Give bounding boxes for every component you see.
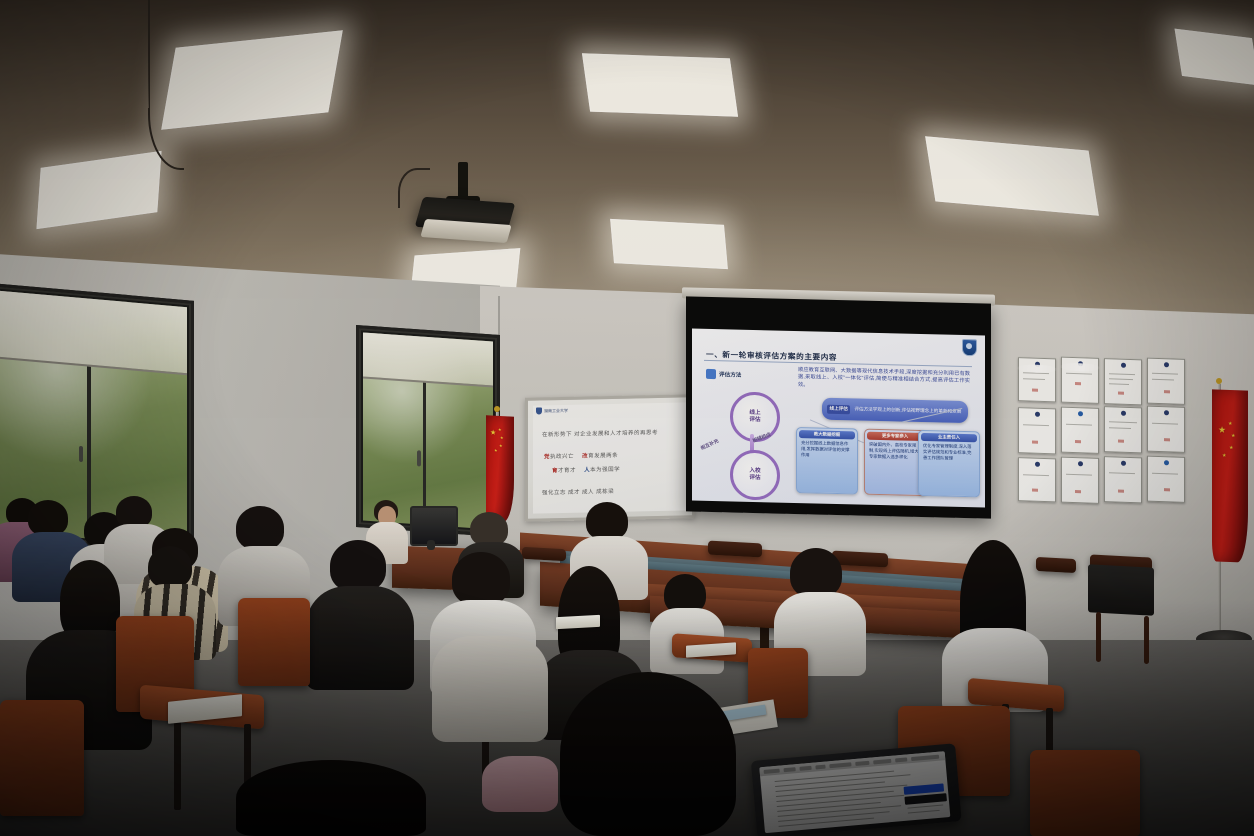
window-right-handle	[417, 450, 421, 466]
flag-left-podium: ★ ★ ★ ★ ★	[486, 415, 514, 522]
ring-onsite: 入校 评估	[730, 449, 780, 500]
certificate-line	[1066, 373, 1092, 375]
window-right-blind	[363, 332, 493, 387]
certificate-stamp	[1075, 490, 1081, 493]
ring-online: 线上 评估	[730, 391, 780, 442]
certificate-line	[1109, 427, 1131, 429]
certificate-line	[1109, 383, 1129, 385]
chair-seatback	[0, 700, 84, 816]
whiteboard-line-2-rest-b: 育发展两条	[588, 453, 618, 460]
light-panel-5	[582, 53, 738, 116]
certificate-seal	[1164, 460, 1169, 465]
certificate-frame	[1104, 456, 1142, 503]
attendee-hair	[28, 500, 68, 536]
slide-card-1-body: 充分挖掘线上数据信息作用,发挥数据对评估的支撑作用	[799, 440, 855, 459]
certificate-stamp	[1118, 392, 1124, 395]
slide-card-1-header: 教大数据挖掘	[799, 430, 855, 439]
slide-surface: 一、新一轮审核评估方案的主要内容 评估方法 顺应教育互联网、大数据等现代信息技术…	[692, 329, 985, 508]
attendee-hair	[586, 502, 628, 540]
certificate-wall	[1016, 353, 1188, 505]
certificate-stamp	[1032, 489, 1038, 492]
certificate-stamp	[1118, 490, 1124, 493]
slide-paragraph: 顺应教育互联网、大数据等现代信息技术手段,深度挖掘和充分利用已有数据,采取线上、…	[798, 367, 970, 393]
meeting-room-photo: 湖南工业大学 在新形势下 对企业发展和人才培养的再思考 党执政兴亡 改育发展两条…	[0, 0, 1254, 836]
slide-card-2-header: 更多专家参入	[867, 432, 923, 441]
certificate-line	[1109, 378, 1133, 380]
slide-card-3-body: 优化专家管理制度,深入落实评估规范和专业标准,完善工作团队管理	[921, 443, 977, 462]
certificate-stamp	[1075, 382, 1081, 385]
attendee-hair	[452, 552, 510, 606]
slide-banner-tag: 线上评估	[827, 404, 850, 414]
slide-section-badge: 评估方法	[706, 369, 741, 380]
certificate-seal	[1164, 362, 1169, 367]
flag-star-small: ★	[498, 426, 502, 434]
flag-star-large: ★	[490, 429, 496, 437]
certificate-frame	[1104, 358, 1142, 405]
attendee-hair	[560, 672, 736, 836]
whiteboard-line-3: 育才育才 人本为强国学	[552, 465, 620, 474]
light-panel-4	[610, 219, 728, 269]
certificate-line	[1023, 424, 1049, 426]
certificate-stamp	[1164, 488, 1170, 491]
whiteboard-line-4: 强化立志 成才 成人 成栋梁	[542, 487, 614, 497]
notebook	[556, 615, 600, 629]
certificate-frame	[1147, 456, 1185, 503]
certificate-seal	[1078, 461, 1083, 466]
certificate-stamp	[1118, 440, 1124, 443]
whiteboard-emblem-icon	[536, 407, 542, 414]
ring-onsite-line2: 评估	[749, 475, 760, 482]
slide-card-3: 业主责任入 优化专家管理制度,深入落实评估规范和专业标准,完善工作团队管理	[918, 430, 980, 497]
university-emblem-icon	[962, 339, 977, 356]
certificate-stamp	[1075, 440, 1081, 443]
flag-star-small: ★	[1222, 452, 1226, 460]
slide-card-3-header: 业主责任入	[921, 433, 977, 442]
document-line	[907, 804, 943, 809]
certificate-line	[1109, 373, 1135, 375]
side-chair	[1036, 557, 1076, 573]
document-line	[908, 810, 940, 814]
slide-card-1: 教大数据挖掘 充分挖掘线上数据信息作用,发挥数据对评估的支撑作用	[796, 427, 858, 494]
context-panel[interactable]	[904, 793, 947, 805]
attendee-body	[306, 586, 414, 690]
laptop-screen[interactable]	[759, 751, 950, 833]
section-badge-icon	[706, 369, 716, 379]
certificate-frame	[1147, 406, 1185, 453]
certificate-seal	[1078, 411, 1083, 416]
attendee-body	[432, 636, 548, 742]
certificate-seal	[1121, 461, 1126, 466]
whiteboard-header: 湖南工业大学	[536, 407, 568, 415]
certificate-line	[1023, 378, 1045, 380]
attendee-hair	[148, 546, 192, 588]
ring-online-line2: 评估	[749, 417, 760, 424]
side-chair-seatpad	[1088, 564, 1154, 615]
window-left-handle	[79, 446, 83, 462]
side-chair	[708, 541, 762, 558]
chair-seatback	[1030, 750, 1140, 836]
monitor-stand	[427, 540, 435, 550]
certificate-stamp	[1032, 389, 1038, 392]
section-badge-label: 评估方法	[719, 370, 741, 379]
certificate-frame	[1061, 457, 1099, 504]
certificate-line	[1152, 373, 1178, 375]
slide-card-2: 更多专家参入 突破国内外、高校专家限制,实现线上评估随机,增大专家数据入选多样化	[864, 429, 926, 496]
flag-star-small: ★	[1231, 432, 1235, 440]
flag-star-small: ★	[499, 442, 503, 450]
attendee-hair	[236, 760, 426, 836]
certificate-line	[1066, 474, 1092, 476]
slant-label-left: 相互补充	[699, 437, 719, 451]
attendee-hair	[790, 548, 842, 598]
whiteboard-header-text: 湖南工业大学	[544, 407, 568, 414]
certificate-stamp	[1164, 390, 1170, 393]
certificate-line	[1152, 423, 1178, 425]
certificate-seal	[1035, 412, 1040, 417]
certificate-line	[1023, 474, 1049, 476]
whiteboard-line-2-rest: 执政兴亡	[550, 454, 574, 461]
whiteboard-line-3-rest-b: 本为强国学	[590, 467, 620, 474]
certificate-seal	[1121, 363, 1126, 368]
certificate-frame	[1018, 407, 1056, 454]
slide-title-rule	[704, 360, 972, 367]
certificate-line	[1152, 473, 1178, 475]
attendee-hair	[330, 540, 386, 592]
certificate-seal	[1121, 411, 1126, 416]
certificate-glass-glare	[1060, 363, 1100, 372]
flag-star-small: ★	[1229, 444, 1233, 452]
certificate-line	[1109, 421, 1137, 423]
projection-screen: 一、新一轮审核评估方案的主要内容 评估方法 顺应教育互联网、大数据等现代信息技术…	[686, 296, 991, 518]
certificate-frame	[1018, 457, 1056, 502]
whiteboard-line-2: 党执政兴亡 改育发展两条	[544, 451, 618, 461]
flag-right-wall: ★ ★ ★ ★ ★	[1212, 389, 1248, 562]
flag-star-small: ★	[1228, 420, 1232, 428]
certificate-frame	[1061, 407, 1099, 454]
window-left-sash	[87, 366, 91, 536]
chair-seatback	[238, 598, 310, 686]
certificate-stamp	[1164, 438, 1170, 441]
certificate-frame	[1147, 358, 1185, 405]
attendee-hair	[236, 506, 284, 550]
certificate-seal	[1164, 410, 1169, 415]
flag-star-small: ★	[494, 447, 498, 455]
whiteboard-line-3-rest: 才育才	[558, 468, 576, 474]
side-chair-leg	[1096, 612, 1101, 662]
hanging-cable	[148, 0, 150, 118]
pink-garment	[482, 756, 558, 812]
attendee-hair	[470, 512, 508, 546]
certificate-line	[1152, 379, 1174, 381]
chair-post	[174, 720, 181, 810]
certificate-stamp	[1032, 441, 1038, 444]
certificate-line	[1066, 424, 1092, 426]
flag-star-small: ★	[500, 434, 504, 442]
window-right-sash	[423, 383, 426, 523]
certificate-frame	[1061, 357, 1099, 404]
side-chair-leg	[1144, 616, 1149, 664]
certificate-seal	[1035, 462, 1040, 467]
side-chair	[522, 547, 566, 561]
slide-card-2-body: 突破国内外、高校专家限制,实现线上评估随机,增大专家数据入选多样化	[867, 442, 923, 461]
certificate-frame	[1018, 357, 1056, 402]
flag-star-large: ★	[1218, 426, 1226, 434]
certificate-frame	[1104, 406, 1142, 453]
certificate-line	[1109, 472, 1135, 474]
